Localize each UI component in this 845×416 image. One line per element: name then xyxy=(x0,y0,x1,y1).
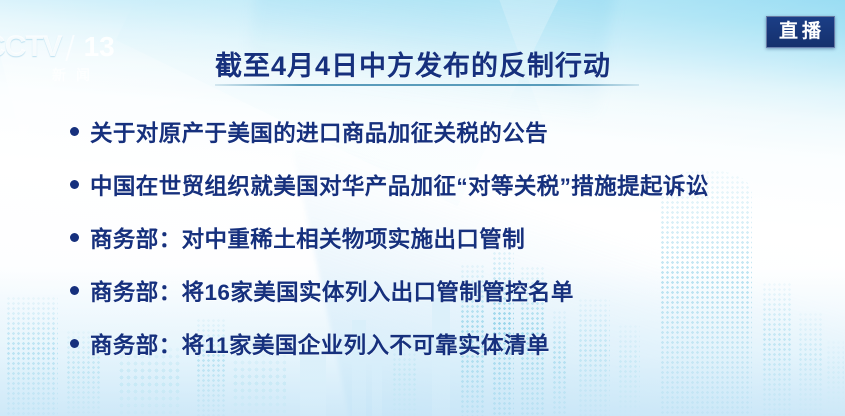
list-item-label: 关于对原产于美国的进口商品加征关税的公告 xyxy=(90,116,548,148)
bullet-dot-icon xyxy=(70,127,79,136)
live-badge: 直播 xyxy=(766,16,835,48)
bullet-dot-icon xyxy=(70,339,79,348)
policy-action-list: 关于对原产于美国的进口商品加征关税的公告 中国在世贸组织就美国对华产品加征“对等… xyxy=(70,105,815,370)
bullet-dot-icon xyxy=(70,286,79,295)
list-item: 关于对原产于美国的进口商品加征关税的公告 xyxy=(70,105,815,158)
list-item: 商务部：将11家美国企业列入不可靠实体清单 xyxy=(70,317,815,370)
list-item-label: 商务部：将16家美国实体列入出口管制管控名单 xyxy=(90,275,574,307)
list-item: 商务部：将16家美国实体列入出口管制管控名单 xyxy=(70,264,815,317)
title-underline xyxy=(215,84,639,86)
list-item: 商务部：对中重稀土相关物项实施出口管制 xyxy=(70,211,815,264)
list-item-label: 商务部：将11家美国企业列入不可靠实体清单 xyxy=(90,328,550,360)
bullet-dot-icon xyxy=(70,233,79,242)
list-item-label: 中国在世贸组织就美国对华产品加征“对等关税”措施提起诉讼 xyxy=(90,169,709,201)
list-item-label: 商务部：对中重稀土相关物项实施出口管制 xyxy=(90,222,525,254)
broadcast-graphic-screen: CCTV 13 新闻 直播 截至4月4日中方发布的反制行动 关于对原产于美国的进… xyxy=(0,0,845,416)
list-item: 中国在世贸组织就美国对华产品加征“对等关税”措施提起诉讼 xyxy=(70,158,815,211)
bullet-dot-icon xyxy=(70,180,79,189)
page-title: 截至4月4日中方发布的反制行动 xyxy=(215,44,611,83)
